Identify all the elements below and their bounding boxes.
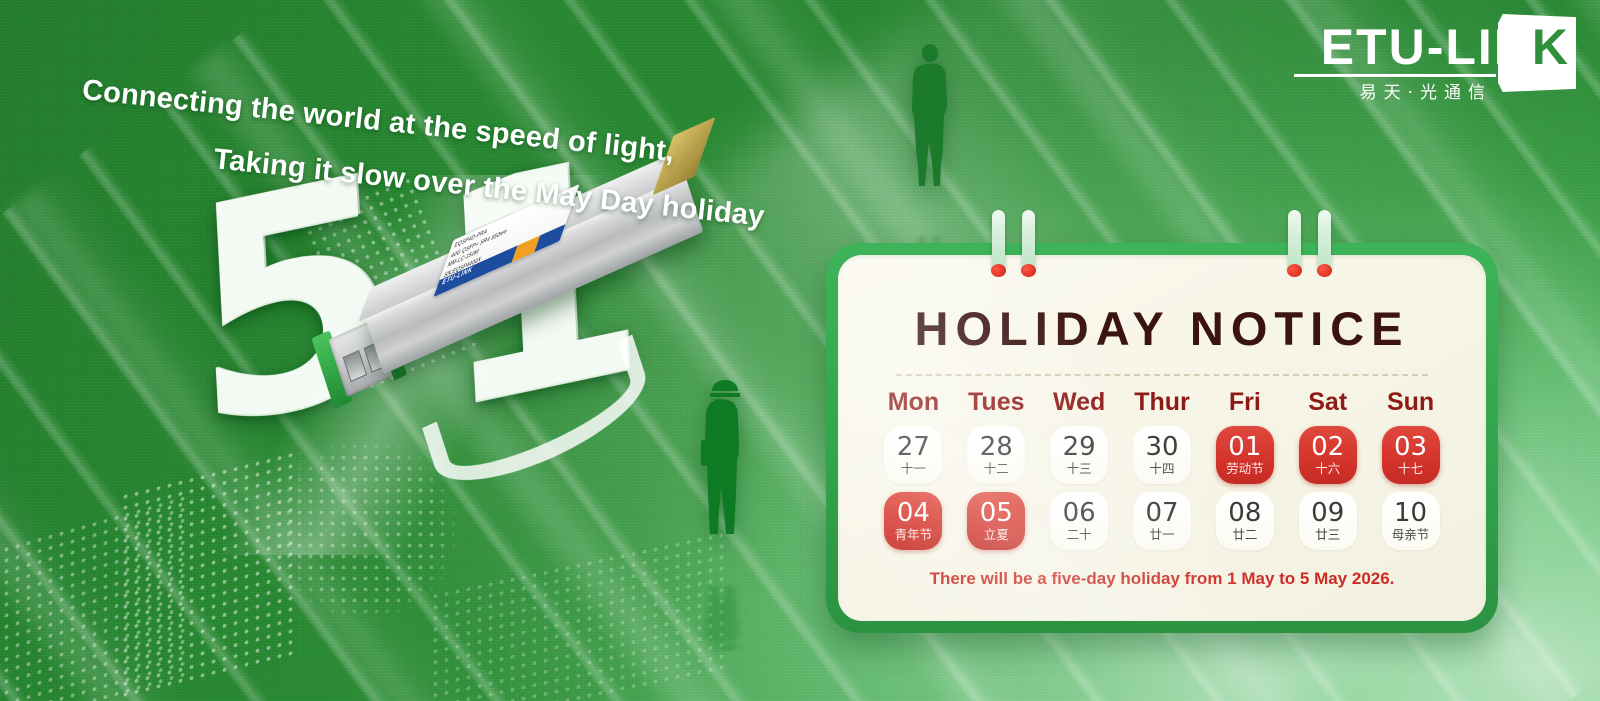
calendar-day-lunar-label: 十二 bbox=[984, 463, 1009, 476]
calendar-day-lunar-label: 十一 bbox=[901, 463, 926, 476]
calendar-day-lunar-label: 十六 bbox=[1315, 463, 1340, 476]
calendar-day[interactable]: 30十四 bbox=[1133, 426, 1191, 484]
calendar-cell-slot: 27十一 bbox=[872, 423, 955, 487]
calendar-cell-slot: 03十七 bbox=[1369, 423, 1452, 487]
calendar-cell-slot: 01劳动节 bbox=[1203, 423, 1286, 487]
calendar-cell-slot: 10母亲节 bbox=[1369, 489, 1452, 553]
calendar-day-header: Fri bbox=[1203, 388, 1286, 421]
calendar-cell-slot: 28十二 bbox=[955, 423, 1038, 487]
calendar-day-holiday[interactable]: 04青年节 bbox=[884, 492, 942, 550]
calendar-day-lunar-label: 十四 bbox=[1149, 463, 1174, 476]
calendar-day-lunar-label: 二十 bbox=[1067, 529, 1092, 542]
logo-wordmark: ETU-LINK bbox=[1321, 18, 1570, 76]
calendar-day-lunar-label: 十三 bbox=[1067, 463, 1092, 476]
calendar-day[interactable]: 27十一 bbox=[884, 426, 942, 484]
calendar-day-lunar-label: 母亲节 bbox=[1392, 529, 1430, 542]
logo-underline-rule bbox=[1294, 74, 1496, 77]
calendar-day-header: Wed bbox=[1038, 388, 1121, 421]
logo-k-letter: K bbox=[1532, 19, 1570, 75]
calendar-day-number: 03 bbox=[1394, 434, 1427, 460]
calendar-cell-slot: 30十四 bbox=[1121, 423, 1204, 487]
worker-with-toolbox-silhouette bbox=[690, 378, 760, 538]
calendar-day-number: 08 bbox=[1228, 500, 1261, 526]
calendar-day-number: 28 bbox=[980, 434, 1013, 460]
card-paper-surface: HOLIDAY NOTICE MonTuesWedThurFriSatSun27… bbox=[838, 255, 1486, 621]
calendar-day[interactable]: 07廿一 bbox=[1133, 492, 1191, 550]
calendar-cell-slot: 29十三 bbox=[1038, 423, 1121, 487]
calendar-day-lunar-label: 青年节 bbox=[895, 529, 933, 542]
calendar-day-number: 06 bbox=[1063, 500, 1096, 526]
calendar-day-lunar-label: 十七 bbox=[1398, 463, 1423, 476]
calendar-day-holiday[interactable]: 05立夏 bbox=[967, 492, 1025, 550]
calendar-day-lunar-label: 廿三 bbox=[1315, 529, 1340, 542]
logo-chinese-subtitle: 易天·光通信 bbox=[1360, 78, 1492, 103]
card-dashed-divider bbox=[896, 374, 1428, 376]
card-footnote: There will be a five-day holiday from 1 … bbox=[838, 569, 1486, 589]
calendar-cell-slot: 08廿二 bbox=[1203, 489, 1286, 553]
lc-port bbox=[343, 350, 368, 382]
calendar-cell-slot: 07廿一 bbox=[1121, 489, 1204, 553]
worker-reflection bbox=[690, 584, 760, 651]
calendar-day[interactable]: 10母亲节 bbox=[1382, 492, 1440, 550]
calendar-day-header: Tues bbox=[955, 388, 1038, 421]
calendar-day-number: 04 bbox=[897, 500, 930, 526]
calendar-day-header: Sat bbox=[1286, 388, 1369, 421]
calendar-cell-slot: 05立夏 bbox=[955, 489, 1038, 553]
calendar-day-number: 30 bbox=[1145, 434, 1178, 460]
calendar-day[interactable]: 06二十 bbox=[1050, 492, 1108, 550]
calendar-day-lunar-label: 廿一 bbox=[1149, 529, 1174, 542]
calendar-day-number: 27 bbox=[897, 434, 930, 460]
calendar-grid: MonTuesWedThurFriSatSun27十一28十二29十三30十四0… bbox=[872, 388, 1452, 553]
calendar-day[interactable]: 29十三 bbox=[1050, 426, 1108, 484]
etu-link-logo[interactable]: ETU-LINK 易天·光通信 bbox=[1276, 10, 1576, 96]
calendar-day-lunar-label: 劳动节 bbox=[1226, 463, 1264, 476]
calendar-day[interactable]: 08廿二 bbox=[1216, 492, 1274, 550]
calendar-day-holiday[interactable]: 02十六 bbox=[1299, 426, 1357, 484]
calendar-day-number: 05 bbox=[980, 500, 1013, 526]
calendar-day-number: 07 bbox=[1145, 500, 1178, 526]
calendar-day-holiday[interactable]: 01劳动节 bbox=[1216, 426, 1274, 484]
banner-stage: 5 1 EQSP4D-PRA 40G QSFP+ SR4 850nm MM-LC… bbox=[0, 0, 1600, 701]
calendar-cell-slot: 06二十 bbox=[1038, 489, 1121, 553]
walking-person-silhouette bbox=[900, 40, 960, 190]
calendar-day[interactable]: 09廿三 bbox=[1299, 492, 1357, 550]
calendar-day-header: Sun bbox=[1369, 388, 1452, 421]
calendar-day-number: 01 bbox=[1228, 434, 1261, 460]
card-title: HOLIDAY NOTICE bbox=[838, 301, 1486, 356]
calendar-cell-slot: 04青年节 bbox=[872, 489, 955, 553]
holiday-notice-card: HOLIDAY NOTICE MonTuesWedThurFriSatSun27… bbox=[826, 243, 1498, 633]
card-green-frame: HOLIDAY NOTICE MonTuesWedThurFriSatSun27… bbox=[826, 243, 1498, 633]
calendar-day-number: 09 bbox=[1311, 500, 1344, 526]
calendar-day-lunar-label: 廿二 bbox=[1232, 529, 1257, 542]
calendar-day-number: 29 bbox=[1063, 434, 1096, 460]
calendar-cell-slot: 09廿三 bbox=[1286, 489, 1369, 553]
logo-wordmark-text: ETU-LIN bbox=[1321, 19, 1532, 75]
calendar-day[interactable]: 28十二 bbox=[967, 426, 1025, 484]
calendar-day-number: 02 bbox=[1311, 434, 1344, 460]
calendar-day-lunar-label: 立夏 bbox=[984, 529, 1009, 542]
calendar-day-header: Thur bbox=[1121, 388, 1204, 421]
calendar-day-number: 10 bbox=[1394, 500, 1427, 526]
calendar-day-header: Mon bbox=[872, 388, 955, 421]
calendar-day-holiday[interactable]: 03十七 bbox=[1382, 426, 1440, 484]
calendar-cell-slot: 02十六 bbox=[1286, 423, 1369, 487]
